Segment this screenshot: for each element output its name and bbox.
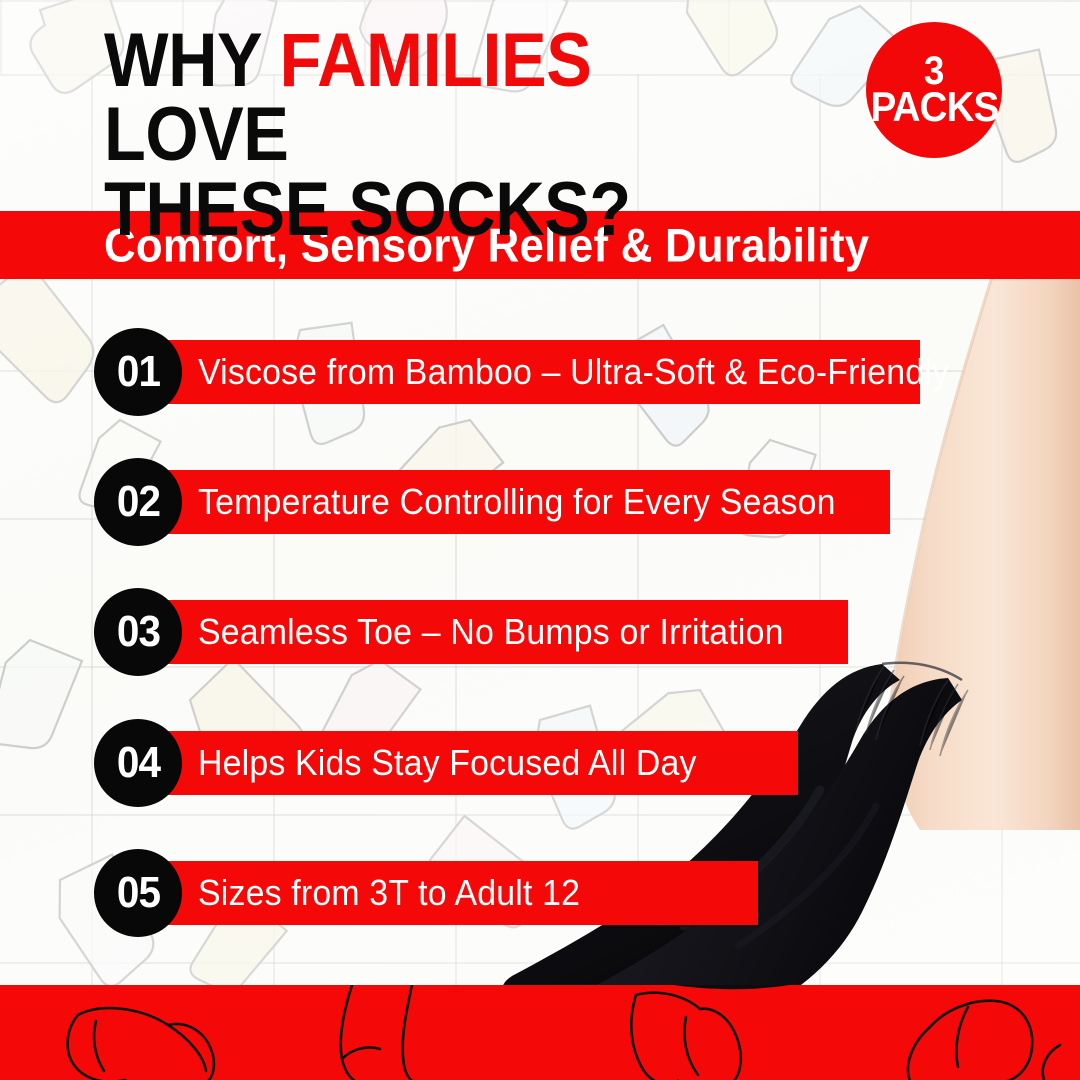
feature-number-badge: 05 (94, 849, 182, 937)
headline-accent-families: FAMILIES (280, 18, 592, 103)
feature-number-badge: 01 (94, 328, 182, 416)
feature-number-badge: 02 (94, 458, 182, 546)
page-title: WHY FAMILIES LOVE THESE SOCKS? (104, 24, 734, 247)
product-infographic-poster: WHY FAMILIES LOVE THESE SOCKS? 3 PACKS C… (0, 0, 1080, 1080)
feature-number-badge: 04 (94, 719, 182, 807)
feature-number: 01 (116, 347, 159, 397)
feature-label: Temperature Controlling for Every Season (198, 481, 836, 523)
feature-number: 02 (116, 477, 159, 527)
feature-number-badge: 03 (94, 588, 182, 676)
feature-label: Seamless Toe – No Bumps or Irritation (198, 611, 784, 653)
footer-band (0, 985, 1080, 1080)
feature-bar: Sizes from 3T to Adult 12 (148, 861, 758, 925)
pack-count-badge: 3 PACKS (866, 22, 1002, 158)
feature-number: 03 (116, 607, 159, 657)
footer-sock-overlap (0, 985, 1080, 1080)
feature-label: Viscose from Bamboo – Ultra-Soft & Eco-F… (198, 351, 949, 393)
feature-bar: Helps Kids Stay Focused All Day (148, 731, 798, 795)
feature-bar: Seamless Toe – No Bumps or Irritation (148, 600, 848, 664)
feature-number: 04 (116, 738, 159, 788)
feature-label: Sizes from 3T to Adult 12 (198, 872, 580, 914)
feature-label: Helps Kids Stay Focused All Day (198, 742, 697, 784)
headline-text-why: WHY (104, 18, 280, 103)
headline-line-2: THESE SOCKS? (104, 173, 734, 247)
badge-label: PACKS (870, 88, 998, 126)
feature-bar: Viscose from Bamboo – Ultra-Soft & Eco-F… (148, 340, 920, 404)
headline-text-love: LOVE (104, 92, 288, 177)
headline-line-1: WHY FAMILIES LOVE (104, 24, 734, 173)
feature-bar: Temperature Controlling for Every Season (148, 470, 890, 534)
feature-number: 05 (116, 868, 159, 918)
